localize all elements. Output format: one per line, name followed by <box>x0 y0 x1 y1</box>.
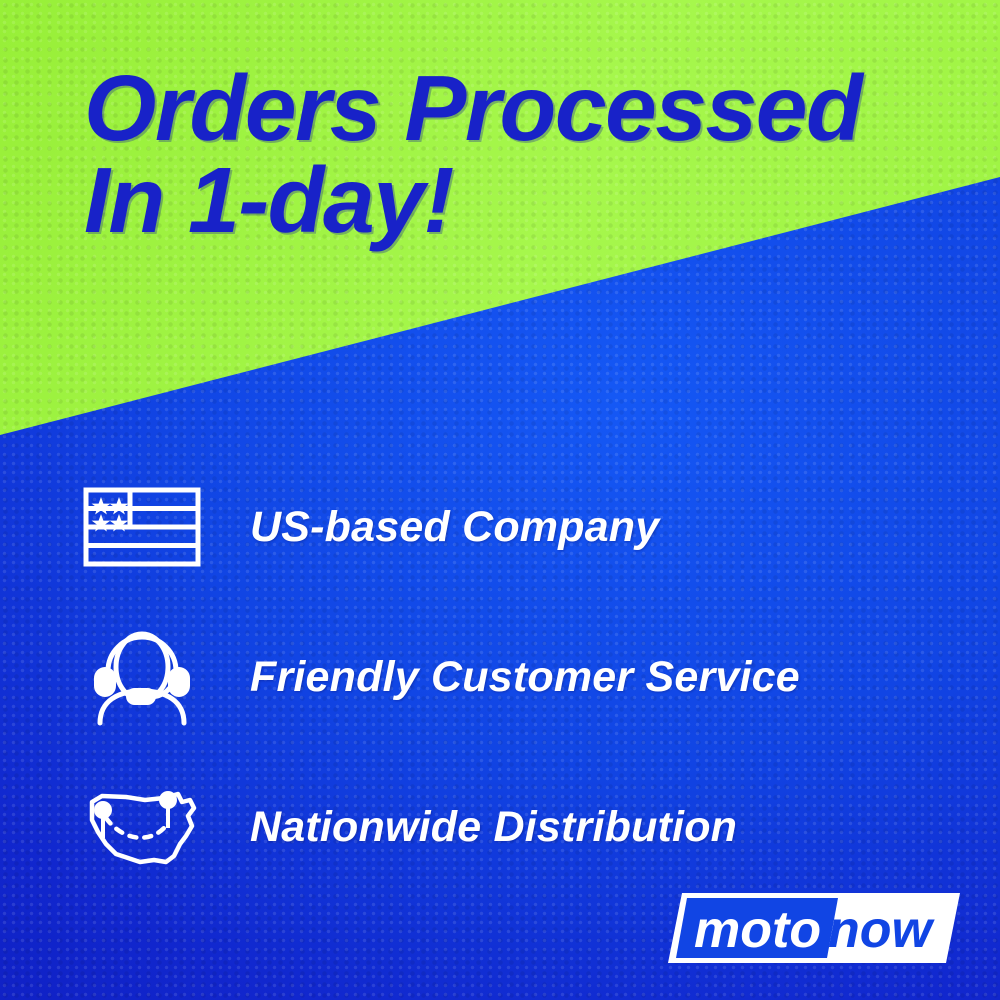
feature-list: US-based Company <box>82 452 952 902</box>
promo-banner: Orders Processed In 1-day! <box>0 0 1000 1000</box>
us-flag-icon <box>82 486 212 568</box>
logo-text-now: now <box>828 901 936 959</box>
feature-item-us-based: US-based Company <box>82 452 952 602</box>
us-map-route-icon <box>82 782 212 872</box>
feature-label: US-based Company <box>250 503 659 552</box>
feature-item-nationwide: Nationwide Distribution <box>82 752 952 902</box>
motonow-logo[interactable]: moto now <box>668 893 960 963</box>
page-title: Orders Processed In 1-day! <box>84 62 964 246</box>
feature-label: Friendly Customer Service <box>250 653 800 702</box>
feature-item-customer-service: Friendly Customer Service <box>82 602 952 752</box>
headset-support-icon <box>82 627 212 727</box>
logo-text-moto: moto <box>694 901 821 959</box>
feature-label: Nationwide Distribution <box>250 803 737 852</box>
